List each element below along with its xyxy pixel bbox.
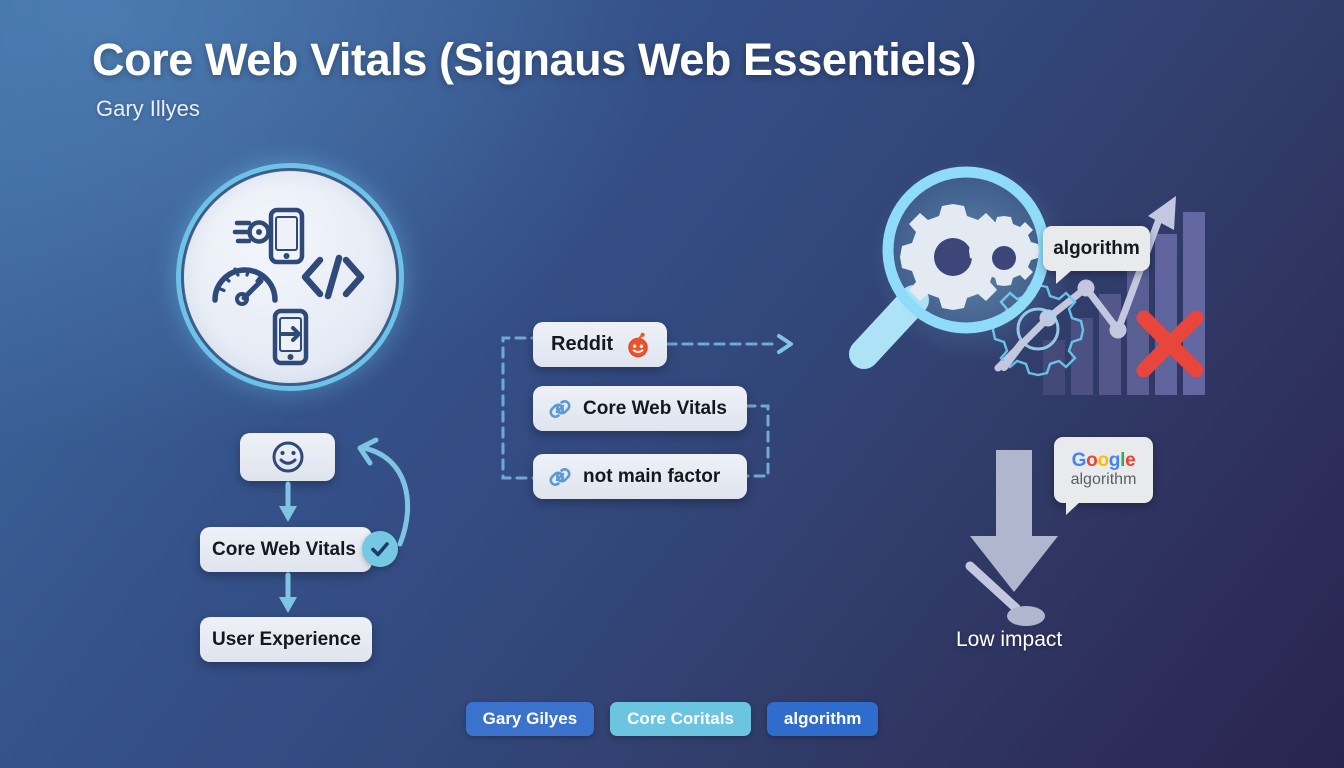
link-icon	[547, 464, 573, 490]
google-letter-g2: g	[1109, 450, 1120, 471]
not-main-factor-card-label: not main factor	[583, 466, 720, 488]
page-subtitle: Gary Illyes	[96, 96, 200, 122]
reddit-icon	[625, 332, 651, 358]
tag-gary-gilyes[interactable]: Gary Gilyes	[466, 702, 595, 736]
reddit-card[interactable]: Reddit	[533, 322, 667, 367]
infographic-canvas: Core Web Vitals (Signaus Web Essentiels)…	[0, 0, 1344, 768]
user-experience-card[interactable]: User Experience	[200, 617, 372, 662]
curved-feedback-arrow	[346, 432, 426, 557]
flow-arrow-smiley-to-cwv	[275, 484, 301, 524]
link-icon	[547, 396, 573, 422]
algorithm-speech-bubble: algorithm	[1043, 226, 1150, 271]
google-letter-e: e	[1125, 450, 1135, 471]
speed-mobile-icon	[235, 206, 311, 266]
google-bubble-subtitle: algorithm	[1071, 471, 1137, 489]
magnifier-gears-icon	[836, 158, 1056, 388]
low-impact-label: Low impact	[956, 628, 1062, 652]
core-web-vitals-card-label: Core Web Vitals	[212, 539, 356, 561]
tag-algorithm[interactable]: algorithm	[767, 702, 878, 736]
flow-arrow-cwv-to-ux	[275, 575, 301, 615]
google-letter-o2: o	[1097, 450, 1108, 471]
smiley-card[interactable]	[240, 433, 335, 481]
reddit-card-label: Reddit	[551, 333, 613, 356]
core-web-vitals-hero-circle	[176, 163, 404, 391]
gauge-icon	[211, 258, 279, 304]
code-brackets-icon	[301, 254, 365, 300]
tag-core-coritals[interactable]: Core Coritals	[610, 702, 751, 736]
core-web-vitals-link-card-label: Core Web Vitals	[583, 398, 727, 420]
page-title: Core Web Vitals (Signaus Web Essentiels)	[92, 34, 976, 86]
smiley-face-icon	[271, 440, 305, 474]
google-logo: Google	[1072, 451, 1136, 471]
dashed-arrow-reddit-out	[665, 332, 797, 356]
tag-bar: Gary Gilyes Core Coritals algorithm	[0, 702, 1344, 736]
mobile-arrow-icon	[267, 308, 313, 370]
algorithm-bubble-label: algorithm	[1053, 238, 1140, 260]
google-algorithm-bubble: Google algorithm	[1054, 437, 1153, 503]
red-x-icon	[1134, 308, 1206, 380]
google-letter-g1: G	[1072, 450, 1086, 471]
core-web-vitals-link-card[interactable]: Core Web Vitals	[533, 386, 747, 431]
google-letter-o1: o	[1086, 450, 1097, 471]
dashed-connector-right-bracket	[744, 396, 778, 486]
not-main-factor-card[interactable]: not main factor	[533, 454, 747, 499]
user-experience-card-label: User Experience	[212, 629, 361, 651]
